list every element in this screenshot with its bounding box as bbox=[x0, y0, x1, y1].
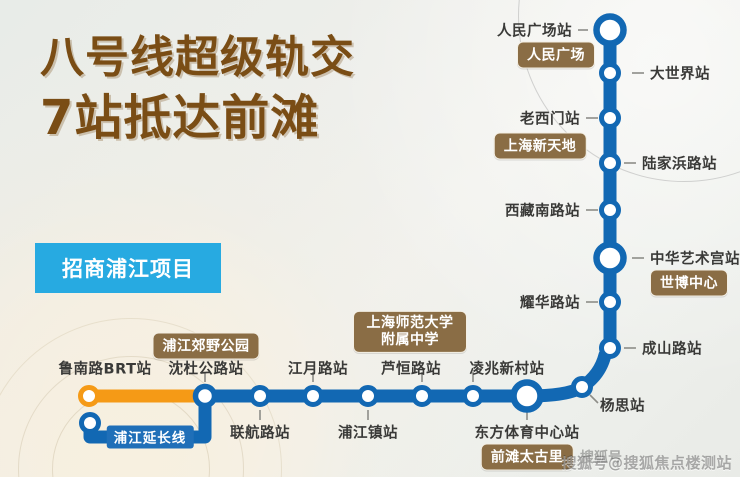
station-dot-jiangyue-road[interactable] bbox=[305, 388, 322, 405]
station-dot-china-art-museum[interactable] bbox=[597, 245, 624, 272]
station-label-luheng-road[interactable]: 芦恒路站 bbox=[381, 358, 441, 379]
station-dot-pujiangzhen[interactable] bbox=[360, 388, 377, 405]
station-label-chengshan-road[interactable]: 成山路站 bbox=[642, 338, 702, 359]
station-label-renmin-square[interactable]: 人民广场站 bbox=[497, 20, 572, 41]
station-label-lingzhao-xincun[interactable]: 凌兆新村站 bbox=[470, 358, 545, 379]
station-label-lunan-road-brt[interactable]: 鲁南路BRT站 bbox=[59, 358, 152, 379]
station-label-china-art-museum[interactable]: 中华艺术宫站 bbox=[650, 248, 740, 269]
poi-badge-shibo-center[interactable]: 世博中心 bbox=[650, 270, 728, 297]
station-dot-lujiabang-road[interactable] bbox=[602, 155, 619, 172]
station-label-lujiabang-road[interactable]: 陆家浜路站 bbox=[642, 153, 717, 174]
station-dot-lianhang-road[interactable] bbox=[252, 388, 269, 405]
station-label-yangsi[interactable]: 杨思站 bbox=[600, 395, 645, 416]
station-dot-dashijie[interactable] bbox=[602, 65, 619, 82]
poi-shnu-line-2: 附属中学 bbox=[381, 332, 439, 348]
station-label-dashijie[interactable]: 大世界站 bbox=[650, 63, 710, 84]
station-dot-chengshan-road[interactable] bbox=[602, 340, 619, 357]
station-label-yaohua-road[interactable]: 耀华路站 bbox=[520, 292, 580, 313]
station-label-jiangyue-road[interactable]: 江月路站 bbox=[288, 358, 348, 379]
poi-badge-qiantan-taikooli[interactable]: 前滩太古里 bbox=[481, 444, 574, 471]
station-label-lianhang-road[interactable]: 联航路站 bbox=[230, 422, 290, 443]
poi-badge-renmin-square[interactable]: 人民广场 bbox=[517, 42, 595, 69]
station-dot-xizang-south-road[interactable] bbox=[602, 202, 619, 219]
station-dot-lunan-road-brt[interactable] bbox=[81, 388, 98, 405]
poi-shnu-line-1: 上海师范大学 bbox=[367, 315, 454, 331]
station-label-laoximen[interactable]: 老西门站 bbox=[520, 108, 580, 129]
station-label-pujiangzhen[interactable]: 浦江镇站 bbox=[338, 422, 398, 443]
station-dot-laoximen[interactable] bbox=[602, 110, 619, 127]
station-dot-branch-terminus[interactable] bbox=[82, 415, 99, 432]
station-dot-yangsi[interactable] bbox=[574, 379, 591, 396]
station-label-xizang-south-road[interactable]: 西藏南路站 bbox=[505, 200, 580, 221]
poi-badge-shnu-affiliated-school[interactable]: 上海师范大学 附属中学 bbox=[353, 311, 467, 353]
station-label-oriental-sports-center[interactable]: 东方体育中心站 bbox=[475, 422, 580, 443]
station-label-shendu-highway[interactable]: 沈杜公路站 bbox=[169, 358, 244, 379]
station-dot-oriental-sports-center[interactable] bbox=[514, 383, 541, 410]
station-dot-shendu-highway[interactable] bbox=[196, 387, 215, 406]
watermark-text: 搜狐号@搜狐焦点楼测站 bbox=[561, 452, 732, 473]
branch-line-label[interactable]: 浦江延长线 bbox=[107, 426, 194, 449]
station-dot-luheng-road[interactable] bbox=[414, 388, 431, 405]
poi-badge-xintiandi[interactable]: 上海新天地 bbox=[494, 133, 587, 160]
poster-canvas: 八号线超级轨交 7站抵达前滩 招商浦江项目 bbox=[0, 0, 740, 477]
poi-badge-pujiang-country-park[interactable]: 浦江郊野公园 bbox=[153, 333, 260, 360]
station-dot-yaohua-road[interactable] bbox=[602, 294, 619, 311]
station-dot-renmin-square[interactable] bbox=[597, 17, 624, 44]
station-dot-lingzhao-xincun[interactable] bbox=[465, 388, 482, 405]
